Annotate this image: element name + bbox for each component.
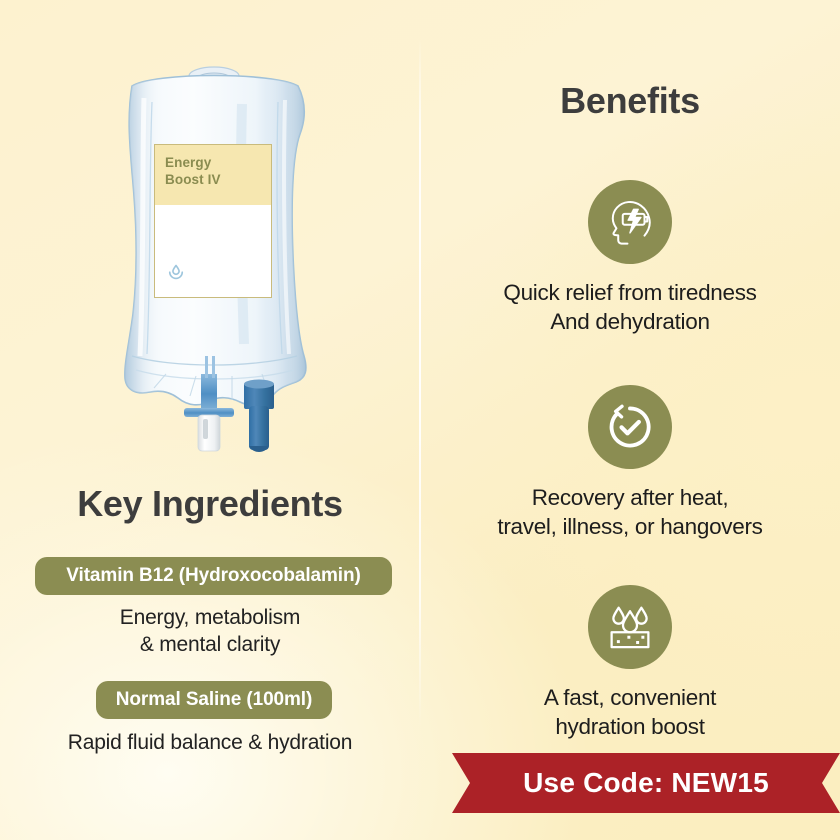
benefit-text: Quick relief from tiredness And dehydrat… [420,278,840,336]
ingredient-pill-normal-saline: Normal Saline (100ml) [96,681,332,719]
right-column: Benefits Quick relief from tiredness And… [420,0,840,840]
label-title-line-2: Boost IV [165,171,271,188]
benefit-icon-badge [588,585,672,669]
iv-bag-illustration: Energy Boost IV [92,56,337,456]
promo-ribbon[interactable]: Use Code: NEW15 [452,753,840,813]
benefit-icon-badge [588,180,672,264]
benefit-item: Recovery after heat, travel, illness, or… [420,385,840,541]
head-battery-bolt-icon [601,193,659,251]
droplets-skin-hydration-icon [602,599,658,655]
benefit-text-line-2: And dehydration [420,307,840,336]
benefit-icon-badge [588,385,672,469]
label-title-line-1: Energy [165,154,271,171]
key-ingredients-title: Key Ingredients [0,483,420,525]
benefit-text: A fast, convenient hydration boost [420,683,840,741]
ingredient-desc-line-2: & mental clarity [0,631,420,658]
ingredient-description-normal-saline: Rapid fluid balance & hydration [0,729,420,756]
benefit-text-line-1: A fast, convenient [420,683,840,712]
benefits-title: Benefits [420,80,840,122]
left-column: Energy Boost IV Key Ingredients Vitamin … [0,0,420,840]
benefit-text-line-2: travel, illness, or hangovers [420,512,840,541]
benefit-text-line-2: hydration boost [420,712,840,741]
refresh-check-icon [603,400,657,454]
ingredient-pill-vitamin-b12: Vitamin B12 (Hydroxocobalamin) [35,557,392,595]
label-title-block: Energy Boost IV [155,145,271,205]
ingredient-desc-line-1: Rapid fluid balance & hydration [0,729,420,756]
benefit-item: A fast, convenient hydration boost [420,585,840,741]
benefit-item: Quick relief from tiredness And dehydrat… [420,180,840,336]
benefit-text-line-1: Recovery after heat, [420,483,840,512]
power-drop-logo-icon [166,263,186,283]
benefit-text: Recovery after heat, travel, illness, or… [420,483,840,541]
benefit-text-line-1: Quick relief from tiredness [420,278,840,307]
ingredient-desc-line-1: Energy, metabolism [0,604,420,631]
ingredient-description-vitamin-b12: Energy, metabolism & mental clarity [0,604,420,658]
promo-infographic: Energy Boost IV Key Ingredients Vitamin … [0,0,840,840]
iv-bag-label: Energy Boost IV [154,144,272,298]
promo-code-text: Use Code: NEW15 [452,753,840,813]
